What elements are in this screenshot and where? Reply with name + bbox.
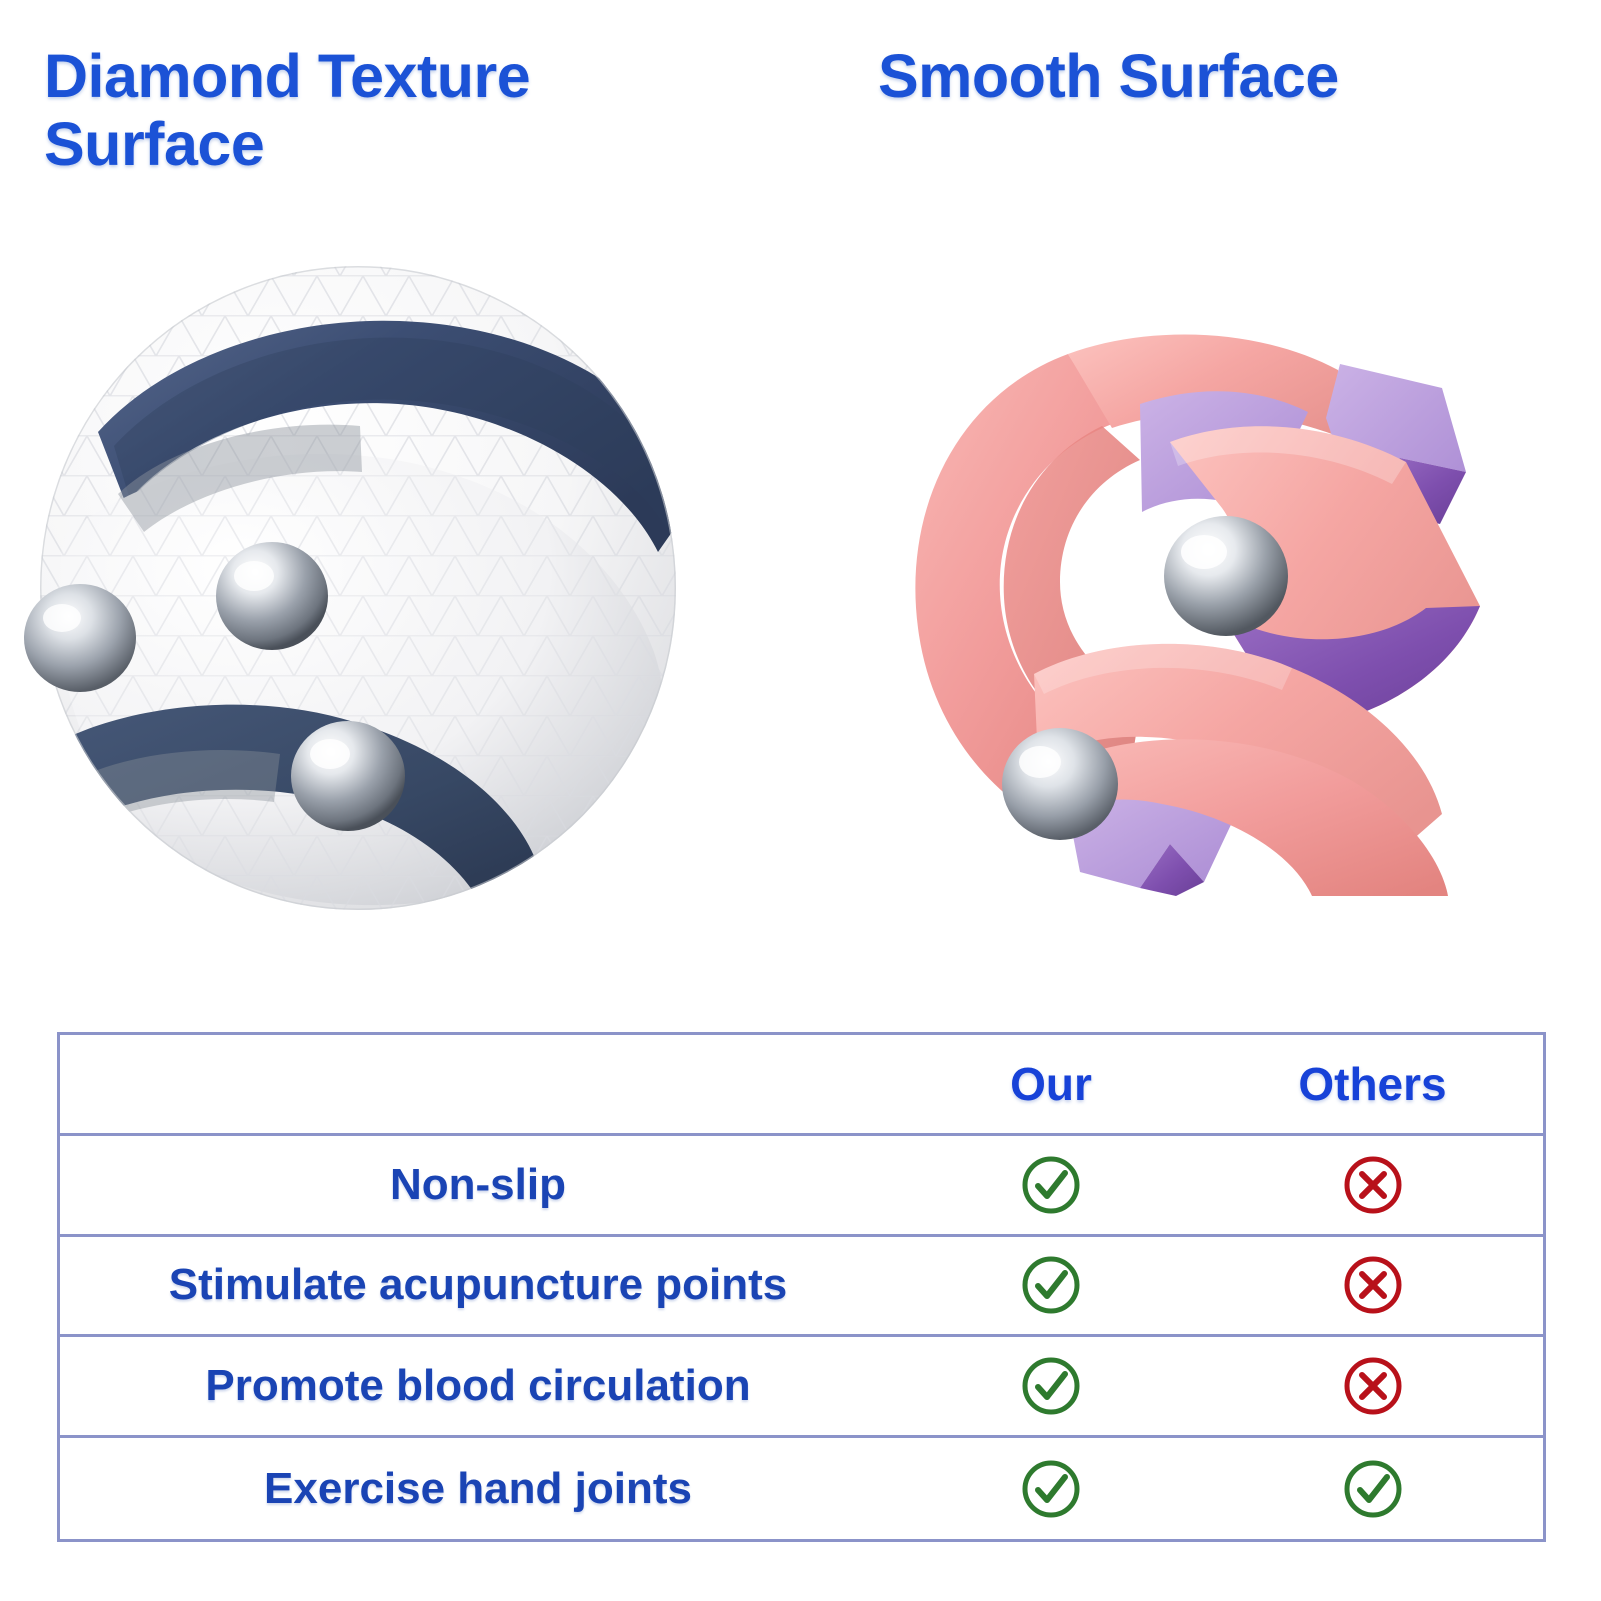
table-header-our-cell: Our [900,1057,1202,1111]
column-header-others: Others [1298,1057,1446,1111]
check-circle-icon [1019,1354,1083,1418]
check-circle-icon [1019,1457,1083,1521]
table-row: Exercise hand joints [60,1438,1543,1539]
title-diamond-texture-surface: Diamond Texture Surface [44,42,804,179]
our-mark-cell [900,1457,1202,1521]
our-mark-cell [900,1153,1202,1217]
smooth-ball-illustration [840,276,1520,896]
others-mark-cell [1202,1153,1543,1217]
table-row: Non-slip [60,1136,1543,1237]
others-mark-cell [1202,1253,1543,1317]
cross-circle-icon [1341,1153,1405,1217]
table-header-others-cell: Others [1202,1057,1543,1111]
others-mark-cell [1202,1457,1543,1521]
comparison-table: Our Others Non-slip Stimulate acupunctur… [57,1032,1546,1542]
check-circle-icon [1019,1253,1083,1317]
table-row: Promote blood circulation [60,1337,1543,1438]
product-image-diamond-texture-ball [18,236,698,936]
feature-label: Stimulate acupuncture points [60,1260,900,1310]
our-mark-cell [900,1354,1202,1418]
feature-label: Promote blood circulation [60,1361,900,1411]
product-image-smooth-surface-ball [840,276,1520,896]
diamond-ball-illustration [18,236,698,936]
cross-circle-icon [1341,1253,1405,1317]
check-circle-icon [1341,1457,1405,1521]
our-mark-cell [900,1253,1202,1317]
feature-label: Exercise hand joints [60,1464,900,1514]
others-mark-cell [1202,1354,1543,1418]
title-smooth-surface: Smooth Surface [878,42,1578,110]
table-header-row: Our Others [60,1035,1543,1136]
table-row: Stimulate acupuncture points [60,1237,1543,1338]
column-header-our: Our [1010,1057,1092,1111]
check-circle-icon [1019,1153,1083,1217]
feature-label: Non-slip [60,1160,900,1210]
cross-circle-icon [1341,1354,1405,1418]
